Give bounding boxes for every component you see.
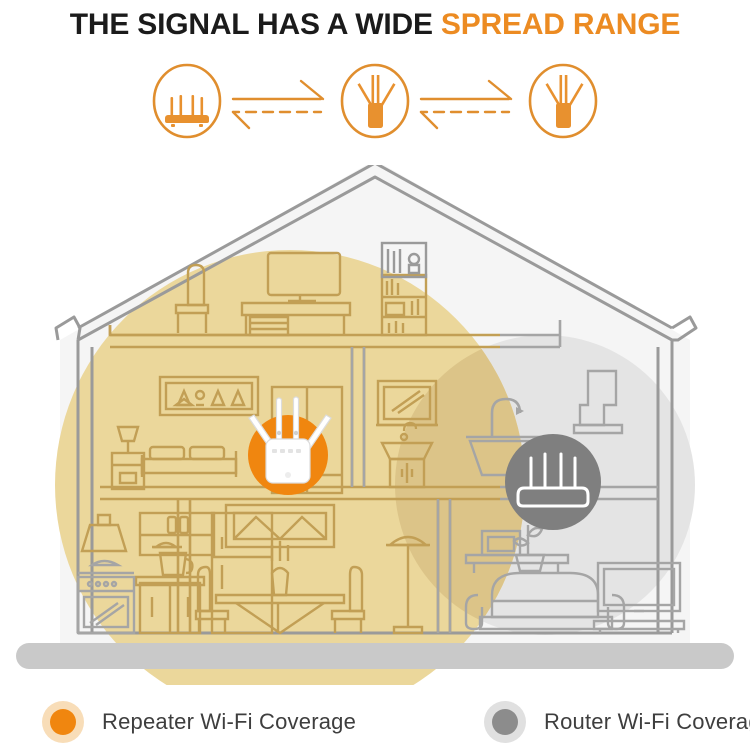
legend-router-label: Router Wi-Fi Coverage	[544, 709, 750, 735]
signal-arrow-icon-1	[227, 65, 335, 137]
poster-canvas: THE SIGNAL HAS A WIDE SPREAD RANGE	[0, 0, 750, 750]
legend-repeater-label: Repeater Wi-Fi Coverage	[102, 709, 356, 735]
page-title: THE SIGNAL HAS A WIDE SPREAD RANGE	[0, 8, 750, 42]
coverage-legend: Repeater Wi-Fi Coverage Router Wi-Fi Cov…	[0, 694, 750, 750]
router-circle-icon	[147, 62, 227, 140]
legend-router: Router Wi-Fi Coverage	[484, 701, 750, 743]
ground-bar	[16, 643, 734, 669]
signal-flow-diagram	[0, 62, 750, 140]
router-badge-circle	[505, 434, 601, 530]
extender-circle-icon-1	[335, 62, 415, 140]
legend-repeater-dot-icon	[42, 701, 84, 743]
wifi-router-device	[505, 434, 601, 530]
house-cutaway-illustration	[0, 165, 750, 685]
legend-repeater: Repeater Wi-Fi Coverage	[42, 701, 356, 743]
page-title-dark: THE SIGNAL HAS A WIDE	[70, 8, 441, 41]
legend-router-dot-icon	[484, 701, 526, 743]
extender-circle-icon-2	[523, 62, 603, 140]
signal-arrow-icon-2	[415, 65, 523, 137]
page-title-accent: SPREAD RANGE	[441, 8, 680, 41]
